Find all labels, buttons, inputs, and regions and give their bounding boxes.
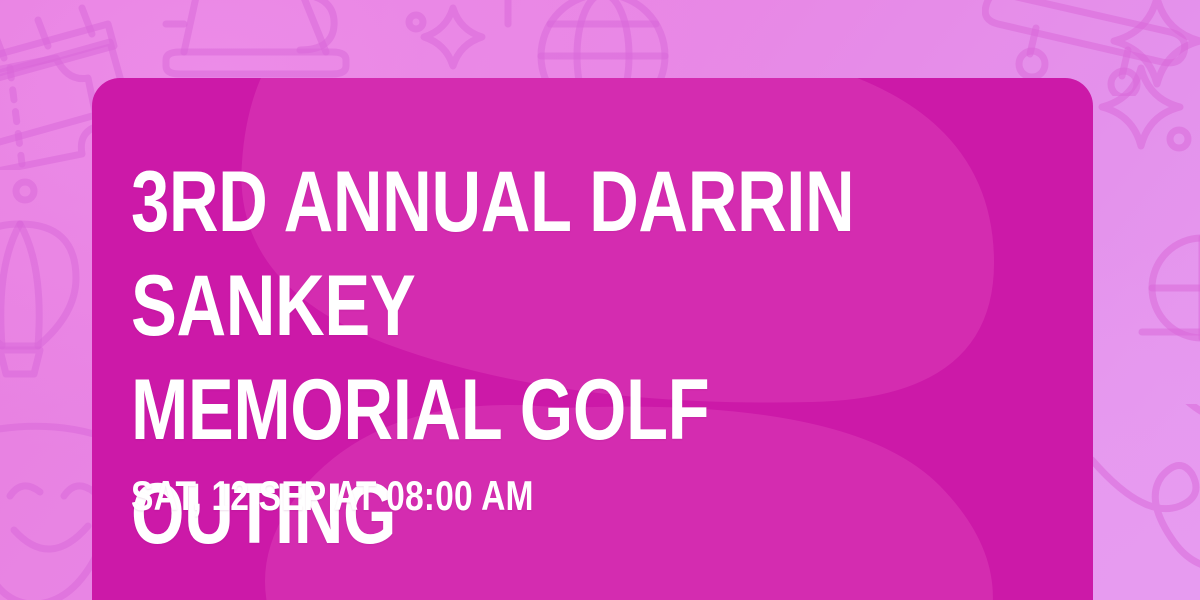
event-date-time: SAT, 12 SEP AT 08:00 AM <box>131 474 534 518</box>
confetti-dot-icon <box>404 10 428 34</box>
confetti-dot-icon <box>496 0 520 34</box>
sparkle-icon <box>1108 0 1200 90</box>
confetti-dot-icon <box>1164 124 1194 154</box>
card-content: 3RD ANNUAL DARRIN SANKEY MEMORIAL GOLF O… <box>131 78 1063 600</box>
swirl-icon <box>1088 404 1200 600</box>
sparkle-icon <box>418 2 488 72</box>
event-banner: 3RD ANNUAL DARRIN SANKEY MEMORIAL GOLF O… <box>0 0 1200 600</box>
microphone-icon <box>1128 196 1200 386</box>
sparkle-icon <box>1096 62 1186 152</box>
event-card[interactable]: 3RD ANNUAL DARRIN SANKEY MEMORIAL GOLF O… <box>92 78 1093 600</box>
confetti-dot-icon <box>10 176 40 206</box>
balloon-icon <box>0 206 104 396</box>
